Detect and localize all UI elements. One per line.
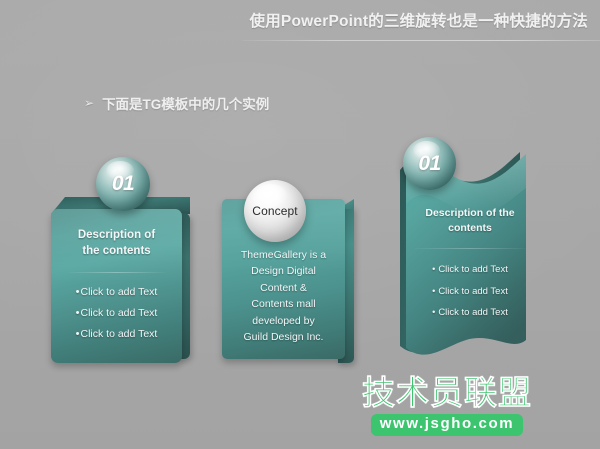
card-two-badge-label: Concept — [252, 204, 297, 218]
card-two-badge-sphere[interactable]: Concept — [244, 180, 306, 242]
page-title: 使用PowerPoint的三维旋转也是一种快捷的方法 — [250, 9, 588, 31]
bullet-dot-icon: • — [432, 264, 435, 274]
header-divider — [242, 40, 600, 41]
list-item[interactable]: •Click to add Text — [59, 324, 174, 345]
list-item-label: Click to add Text — [81, 328, 158, 340]
card-two-paragraph-line: Contents mall — [229, 296, 338, 312]
bullet-dot-icon: • — [432, 286, 435, 296]
card-one-divider — [68, 272, 165, 273]
card-three-divider — [414, 248, 526, 249]
card-one-heading: Description of the contents — [59, 227, 174, 260]
watermark: 技术员联盟 www.jsgho.com — [362, 376, 532, 436]
bullet-dot-icon: • — [76, 308, 80, 319]
card-one-heading-line-2: the contents — [59, 243, 174, 259]
card-one-content: Description of the contents •Click to ad… — [51, 209, 182, 345]
bullet-dot-icon: • — [432, 307, 435, 317]
card-one-heading-line-1: Description of — [59, 227, 174, 243]
list-item-label: Click to add Text — [438, 264, 508, 275]
card-one[interactable]: Description of the contents •Click to ad… — [51, 195, 196, 363]
card-one-badge-sphere[interactable]: 01 — [96, 157, 150, 211]
card-three-badge-sphere[interactable]: 01 — [403, 137, 456, 190]
card-two-paragraph-line: ThemeGallery is a — [229, 247, 338, 263]
list-item[interactable]: •Click to add Text — [400, 259, 540, 281]
card-two-paragraph-line: developed by — [229, 313, 338, 329]
watermark-brand: 技术员联盟 — [362, 376, 532, 409]
card-two-paragraph-line: Guild Design Inc. — [229, 329, 338, 345]
card-three-bullet-list: •Click to add Text •Click to add Text •C… — [400, 259, 540, 324]
card-one-badge-number: 01 — [112, 172, 134, 196]
card-three-heading: Description of the contents — [400, 206, 540, 236]
card-three-badge-number: 01 — [418, 152, 440, 176]
card-two-paragraph-line: Design Digital — [229, 263, 338, 279]
list-item[interactable]: •Click to add Text — [400, 302, 540, 324]
slide-canvas: 使用PowerPoint的三维旋转也是一种快捷的方法 ➢ 下面是TG模板中的几个… — [0, 0, 600, 449]
bullet-dot-icon: • — [76, 287, 80, 298]
list-item[interactable]: •Click to add Text — [400, 281, 540, 303]
list-item-label: Click to add Text — [438, 307, 508, 318]
card-one-body: Description of the contents •Click to ad… — [51, 209, 182, 363]
subtitle-text: 下面是TG模板中的几个实例 — [102, 93, 269, 113]
list-item[interactable]: •Click to add Text — [59, 282, 174, 303]
slide-header: 使用PowerPoint的三维旋转也是一种快捷的方法 — [0, 0, 600, 41]
card-three-heading-line-2: contents — [400, 221, 540, 236]
card-three-content: Description of the contents •Click to ad… — [400, 206, 540, 324]
card-two-paragraph: ThemeGallery is a Design Digital Content… — [229, 247, 338, 345]
list-item-label: Click to add Text — [81, 286, 158, 298]
card-one-bullet-list: •Click to add Text •Click to add Text •C… — [59, 282, 174, 345]
card-two-paragraph-line: Content & — [229, 280, 338, 296]
list-item[interactable]: •Click to add Text — [59, 303, 174, 324]
bullet-dot-icon: • — [76, 329, 80, 340]
watermark-url: www.jsgho.com — [371, 414, 523, 436]
list-item-label: Click to add Text — [81, 307, 158, 319]
list-item-label: Click to add Text — [438, 286, 508, 297]
card-three-heading-line-1: Description of the — [400, 206, 540, 221]
arrow-bullet-icon: ➢ — [84, 97, 94, 109]
subtitle-row: ➢ 下面是TG模板中的几个实例 — [84, 93, 269, 113]
